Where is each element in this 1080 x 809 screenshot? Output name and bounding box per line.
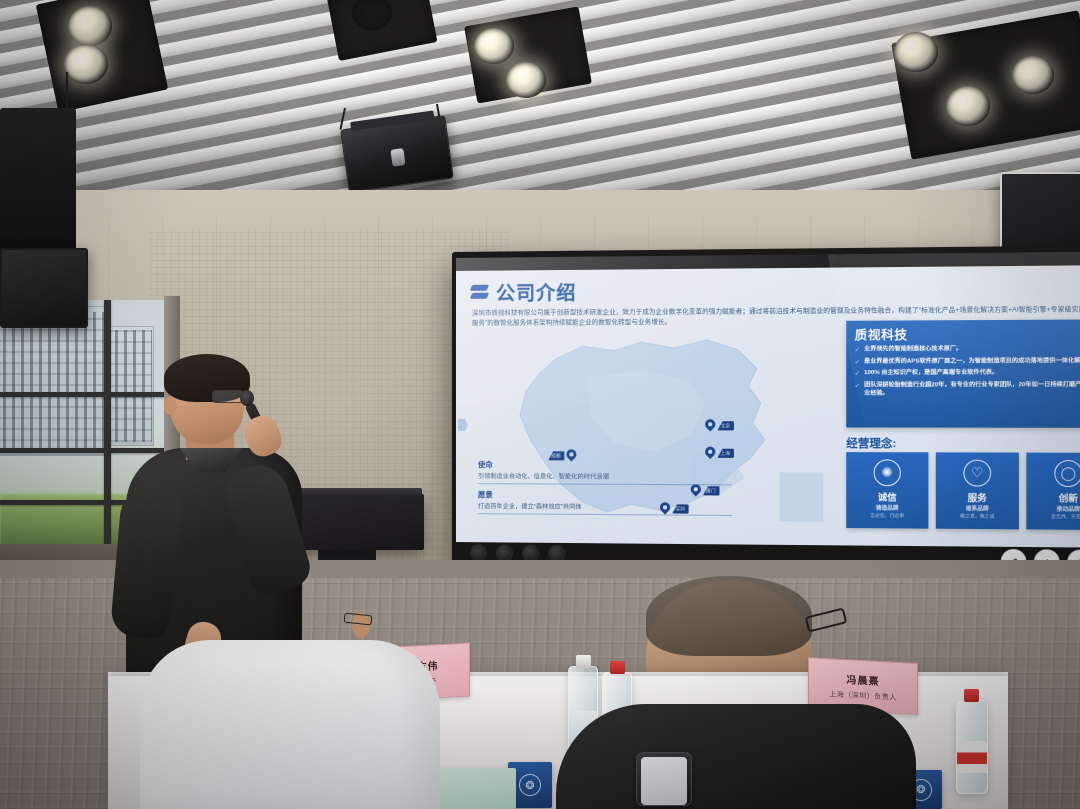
philosophy-card: ◯ 创新 推动品牌 思无界，方无限 bbox=[1026, 453, 1080, 530]
philosophy-title: 经营理念: bbox=[846, 435, 896, 452]
slide-title: 公司介绍 bbox=[496, 278, 577, 306]
highlight-text: 是业界最优秀的APS软件原厂商之一，为智能制造项目的成功落地提供一体化解决方案。 bbox=[864, 358, 1080, 367]
nameplate-name: 冯晨熹 bbox=[847, 671, 880, 688]
mission-vision-block: 使命 引领制造业自动化、信息化、智能化的时代浪潮 愿景 打造百年企业，建立“森林… bbox=[478, 459, 732, 521]
display-bezel: 公司介绍 深圳市质视科技有限公司属于创新型技术研发企业，致力于成为企业数字化变革… bbox=[456, 252, 1080, 548]
handshake-icon: ✺ bbox=[874, 459, 901, 486]
spotlight-icon bbox=[474, 28, 514, 64]
highlight-item: ✓ 是业界最优秀的APS软件原厂商之一，为智能制造项目的成功落地提供一体化解决方… bbox=[855, 358, 1080, 367]
microphone-icon bbox=[240, 390, 254, 406]
bottle-label bbox=[957, 741, 987, 772]
slide-prev-tab-icon[interactable] bbox=[458, 419, 468, 431]
philosophy-card: ✺ 诚信 铸造品牌 言必信，行必果 bbox=[846, 452, 928, 529]
highlight-text: 业界领先的智能制造核心技术原厂。 bbox=[864, 346, 962, 355]
box-seal-icon: ❂ bbox=[519, 774, 541, 796]
card-caption: 思无界，方无限 bbox=[1051, 514, 1080, 520]
card-caption: 敬之意，我之诚 bbox=[960, 513, 994, 519]
bottle-cap bbox=[576, 655, 591, 668]
map-pin-label: 北京 bbox=[717, 421, 734, 430]
notebook bbox=[440, 768, 516, 809]
card-title: 诚信 bbox=[878, 490, 897, 503]
conference-room-photo: 公司介绍 深圳市质视科技有限公司属于创新型技术研发企业，致力于成为企业数字化变革… bbox=[0, 0, 1080, 809]
wall-monitor bbox=[0, 248, 88, 328]
highlights-panel: 质视科技 ✓ 业界领先的智能制造核心技术原厂。 ✓ 是业界最优秀的APS软件原厂… bbox=[846, 319, 1080, 427]
spotlight-icon bbox=[506, 62, 546, 98]
bottle-cap bbox=[610, 661, 625, 674]
highlight-item: ✓ 业界领先的智能制造核心技术原厂。 bbox=[855, 345, 1080, 354]
nameplate-company: 上海（深圳）负责人 bbox=[829, 689, 897, 703]
attendee-torso bbox=[556, 704, 916, 809]
presenter-ear bbox=[164, 396, 177, 415]
vision-text: 打造百年企业，建立“森林效应”共同体 bbox=[478, 501, 732, 516]
slide-header: 公司介绍 bbox=[470, 274, 1080, 306]
presentation-display[interactable]: 公司介绍 深圳市质视科技有限公司属于创新型技术研发企业，致力于成为企业数字化变革… bbox=[452, 245, 1080, 570]
decorative-square bbox=[780, 472, 824, 521]
card-title: 服务 bbox=[968, 491, 987, 505]
highlight-item: ✓ 团队深耕轮胎制造行业超20年，有专业的行业专家团队，20年如一日持续打磨产品… bbox=[855, 382, 1080, 398]
water-bottle bbox=[956, 700, 988, 794]
slide-content: 公司介绍 深圳市质视科技有限公司属于创新型技术研发企业，致力于成为企业数字化变革… bbox=[456, 265, 1080, 547]
smartphone[interactable] bbox=[636, 752, 692, 806]
lightbulb-icon: ◯ bbox=[1054, 460, 1080, 487]
map-pin: 上海 bbox=[705, 447, 734, 460]
mission-heading: 使命 bbox=[478, 459, 732, 471]
spotlight-icon bbox=[1012, 56, 1054, 94]
map-pin-label: 上海 bbox=[717, 449, 734, 458]
projector-lens-icon bbox=[390, 148, 405, 167]
spotlight-icon bbox=[946, 86, 990, 126]
check-icon: ✓ bbox=[855, 346, 860, 354]
attendee-hair bbox=[646, 576, 812, 656]
philosophy-cards: ✺ 诚信 铸造品牌 言必信，行必果 ♡ 服务 维系品牌 敬之意，我之诚 bbox=[846, 452, 1080, 530]
power-button[interactable] bbox=[470, 544, 487, 561]
building-windows bbox=[0, 312, 106, 452]
highlight-item: ✓ 100% 自主知识产权，是国产高端专业软件代表。 bbox=[855, 370, 1080, 379]
check-icon: ✓ bbox=[855, 370, 860, 378]
check-icon: ✓ bbox=[855, 358, 860, 366]
highlight-text: 团队深耕轮胎制造行业超20年，有专业的行业专家团队，20年如一日持续打磨产品和行… bbox=[864, 382, 1080, 398]
philosophy-card: ♡ 服务 维系品牌 敬之意，我之诚 bbox=[936, 452, 1019, 529]
attendee-torso bbox=[140, 640, 440, 809]
company-logo-icon bbox=[470, 284, 489, 301]
wall-monitor-upper bbox=[0, 108, 76, 258]
highlights-title: 质视科技 bbox=[855, 325, 1080, 344]
map-pin-icon bbox=[705, 447, 715, 460]
bottle-cap bbox=[964, 689, 979, 702]
mission-text: 引领制造业自动化、信息化、智能化的时代浪潮 bbox=[478, 471, 732, 485]
map-pin: 北京 bbox=[705, 419, 734, 432]
spotlight-icon bbox=[68, 6, 112, 46]
spotlight-icon bbox=[64, 44, 108, 84]
highlight-text: 100% 自主知识产权，是国产高端专业软件代表。 bbox=[864, 370, 998, 379]
phone-screen[interactable] bbox=[641, 757, 687, 805]
heart-icon: ♡ bbox=[963, 460, 991, 487]
vision-heading: 愿景 bbox=[478, 489, 732, 502]
card-caption: 言必信，行必果 bbox=[870, 513, 904, 519]
display-screen[interactable]: 公司介绍 深圳市质视科技有限公司属于创新型技术研发企业，致力于成为企业数字化变革… bbox=[456, 252, 1080, 548]
check-icon: ✓ bbox=[855, 382, 860, 398]
card-title: 创新 bbox=[1059, 491, 1078, 505]
map-pin-icon bbox=[705, 419, 715, 432]
spotlight-icon bbox=[894, 32, 938, 72]
